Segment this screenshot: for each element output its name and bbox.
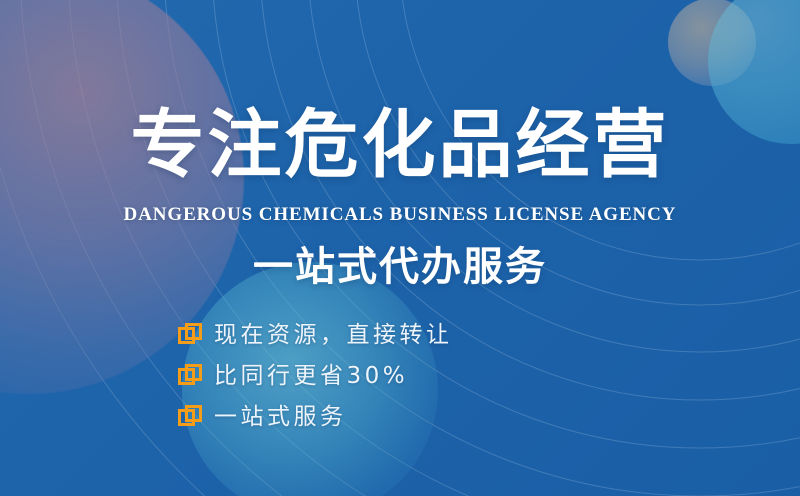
list-item-label: 现在资源，直接转让	[214, 324, 453, 347]
list-item: 一站式服务	[178, 398, 453, 436]
list-item: 现在资源，直接转让	[178, 316, 453, 354]
subtitle-english: DANGEROUS CHEMICALS BUSINESS LICENSE AGE…	[0, 204, 800, 226]
list-item-label: 比同行更省30%	[214, 365, 408, 388]
headline-main: 专注危化品经营	[0, 108, 800, 182]
overlapping-squares-icon	[178, 405, 203, 429]
list-item-label: 一站式服务	[214, 406, 347, 429]
overlapping-squares-icon	[178, 364, 203, 388]
banner-content: 专注危化品经营 DANGEROUS CHEMICALS BUSINESS LIC…	[0, 0, 800, 496]
feature-bullet-list: 现在资源，直接转让 比同行更省30% 一站式服务	[178, 316, 453, 439]
promo-banner: 专注危化品经营 DANGEROUS CHEMICALS BUSINESS LIC…	[0, 0, 800, 496]
headline-secondary: 一站式代办服务	[0, 245, 800, 289]
list-item: 比同行更省30%	[178, 357, 453, 395]
overlapping-squares-icon	[178, 323, 203, 347]
